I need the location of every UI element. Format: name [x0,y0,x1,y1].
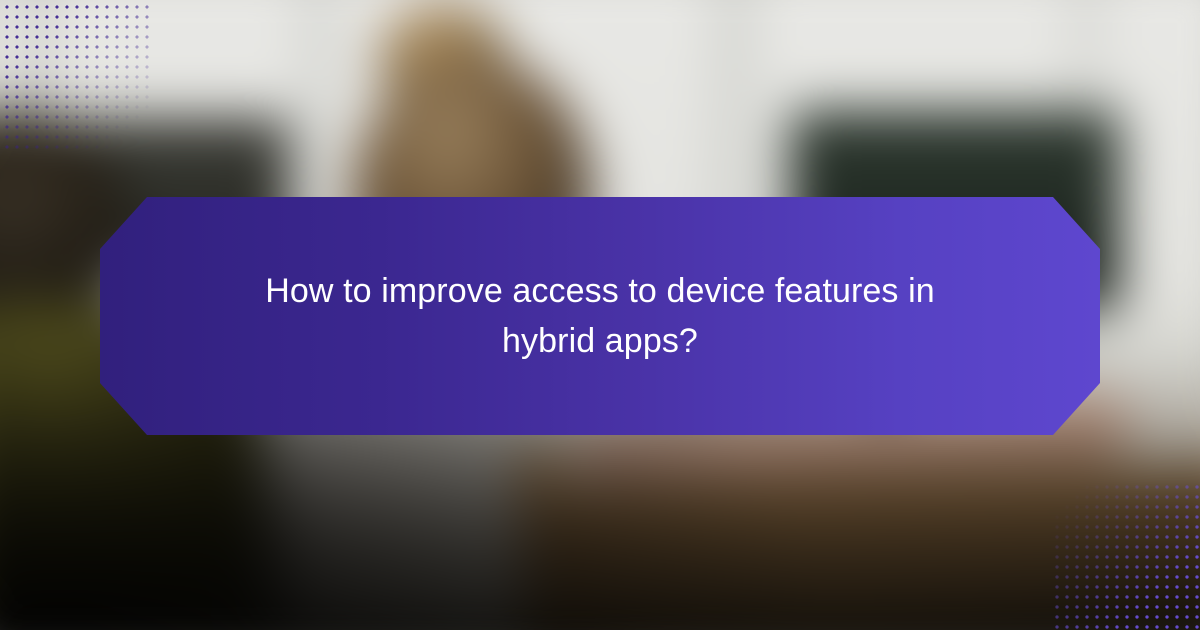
hero-banner-canvas: How to improve access to device features… [0,0,1200,630]
page-title: How to improve access to device features… [220,266,980,366]
title-banner: How to improve access to device features… [100,197,1100,435]
